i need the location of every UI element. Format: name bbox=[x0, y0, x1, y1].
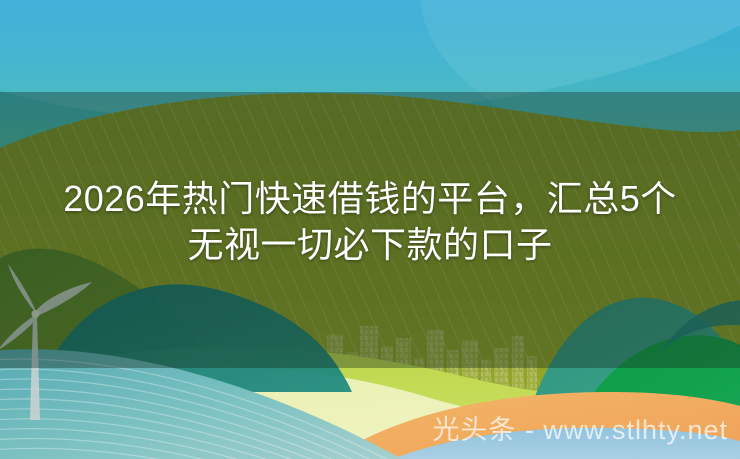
site-watermark: 光头条 - www.stlhty.net bbox=[432, 408, 728, 447]
headline-line-2: 无视一切必下款的口子 bbox=[0, 222, 740, 268]
headline-line-1: 2026年热门快速借钱的平台，汇总5个 bbox=[0, 176, 740, 222]
page-title: 2026年热门快速借钱的平台，汇总5个 无视一切必下款的口子 bbox=[0, 176, 740, 268]
article-cover-banner: 2026年热门快速借钱的平台，汇总5个 无视一切必下款的口子 光头条 - www… bbox=[0, 0, 740, 459]
